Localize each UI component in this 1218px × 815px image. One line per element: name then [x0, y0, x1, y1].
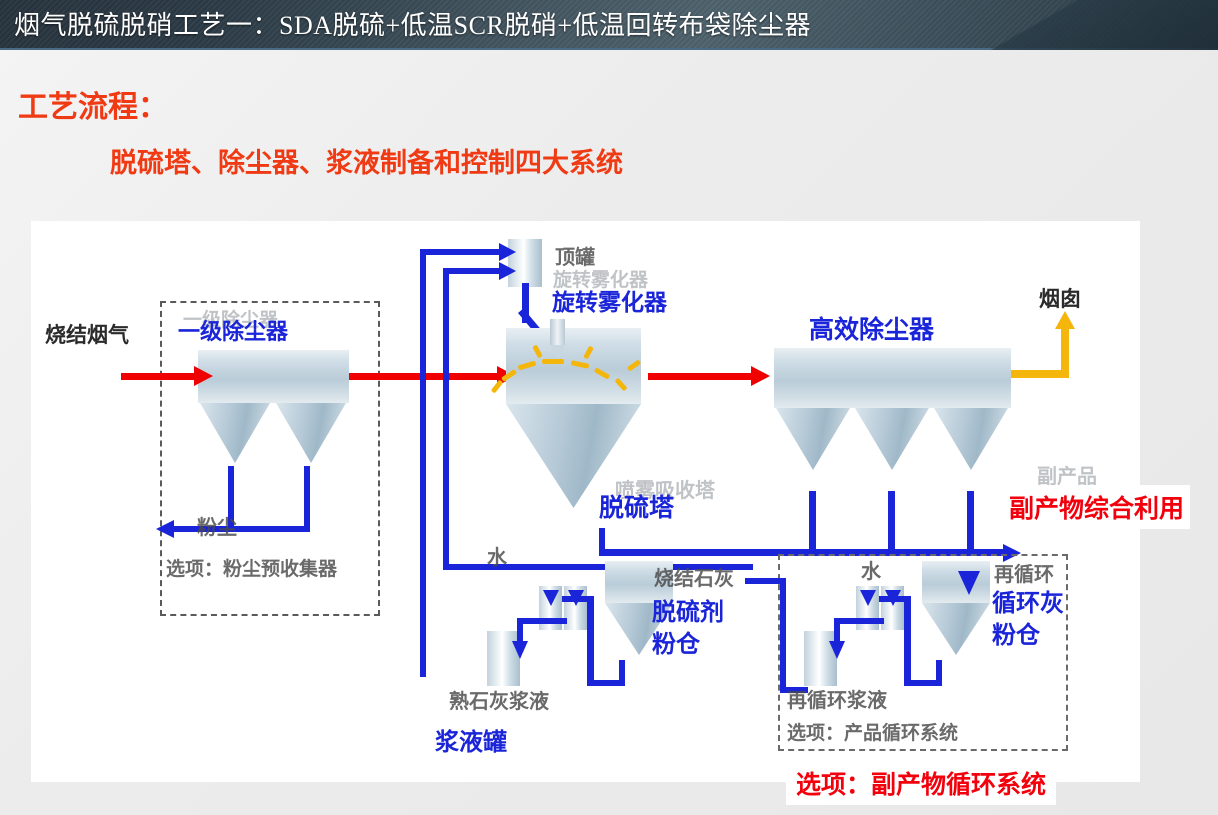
page-title: 烟气脱硫脱硝工艺一：SDA脱硫+低温SCR脱硝+低温回转布袋除尘器	[14, 5, 811, 42]
spray-arc-7	[491, 379, 504, 393]
mixer-to-tank-horizontal	[517, 618, 567, 624]
tower-label: 脱硫塔	[599, 488, 674, 524]
recycle-discharge-riser	[904, 596, 911, 686]
byproduct-label: 副产物综合利用	[1003, 485, 1190, 529]
process-flow-diagram: 烧结烟气 一级除尘器 一级除尘器 粉尘 选项：粉尘预收集器 顶罐 旋转雾化器	[31, 221, 1140, 782]
high-eff-drop-3	[967, 491, 974, 555]
gas-inlet-arrowhead	[194, 366, 213, 386]
recycle-ash-silo-label-1: 循环灰	[992, 583, 1064, 618]
tank-feed-lower-horizontal	[443, 268, 503, 274]
gas-line-to-collector	[648, 373, 758, 380]
recycle-tank-feed-arrowhead	[829, 641, 845, 659]
recycle-water-line	[780, 578, 786, 693]
recycle-discharge-vertical	[936, 660, 942, 686]
section-heading-process-flow: 工艺流程：	[18, 82, 168, 126]
slurry-discharge-vertical-up	[587, 596, 594, 686]
stack-arrowhead	[1055, 311, 1075, 329]
dust-precollector-option-label: 选项：粉尘预收集器	[166, 554, 337, 581]
water-label-left: 水	[487, 541, 507, 570]
recycle-ash-silo-feed-arrowhead	[958, 571, 980, 595]
tank-feed-riser-inner	[443, 268, 449, 568]
byproduct-recycle-option-label: 选项：副产物循环系统	[786, 761, 1056, 805]
dust-return-arrowhead	[156, 520, 174, 538]
high-eff-collector-label: 高效除尘器	[809, 310, 934, 346]
gas-line-inlet	[121, 373, 201, 380]
spray-arc-1	[542, 359, 564, 364]
primary-collector-title: 一级除尘器	[178, 314, 288, 346]
slurry-tank-label: 浆液罐	[435, 722, 507, 757]
dust-return-riser-right	[304, 466, 310, 532]
title-bar: 烟气脱硫脱硝工艺一：SDA脱硫+低温SCR脱硝+低温回转布袋除尘器	[0, 0, 1218, 50]
slurry-discharge-top	[562, 596, 594, 602]
water-label-right: 水	[861, 555, 881, 584]
section-subheading-four-systems: 脱硫塔、除尘器、浆液制备和控制四大系统	[110, 141, 623, 180]
high-eff-hopper-2	[855, 408, 929, 470]
gas-line-to-tower	[349, 373, 504, 380]
high-eff-drop-1	[809, 491, 816, 555]
tank-feed-lower-arrowhead	[499, 262, 516, 280]
sintered-lime-label: 烧结石灰	[654, 562, 734, 591]
stack-line-vertical	[1061, 328, 1069, 376]
atomizer-head	[550, 319, 565, 345]
gas-to-collector-arrowhead	[751, 366, 770, 386]
atomizer-tip	[550, 345, 565, 360]
high-eff-drop-2	[888, 491, 895, 555]
product-recycle-option-label: 选项：产品循环系统	[787, 718, 958, 745]
dust-label: 粉尘	[197, 511, 237, 540]
atomizer-label: 旋转雾化器	[552, 283, 667, 317]
tank-feed-upper-horizontal	[420, 249, 502, 255]
recycle-mixer-arrow-left	[860, 590, 876, 606]
mixer-feed-arrow-left	[543, 590, 559, 606]
recycle-discharge-top	[879, 596, 911, 602]
slurry-discharge-riser	[619, 660, 625, 686]
desulfurizer-silo-label-2: 粉仓	[652, 624, 700, 659]
dust-return-horizontal	[173, 526, 310, 532]
recycle-mixer-to-tank-horizontal	[834, 618, 884, 624]
high-eff-hopper-1	[776, 408, 850, 470]
tank-feed-riser-outer	[420, 249, 426, 677]
lime-slurry-label: 熟石灰浆液	[449, 685, 549, 714]
tank-feed-upper-arrowhead	[499, 243, 516, 261]
recycle-water-line-top	[745, 578, 786, 584]
stack-label: 烟囱	[1039, 283, 1081, 313]
high-eff-hopper-3	[934, 408, 1008, 470]
high-eff-collector-body	[774, 348, 1011, 408]
desulfurizer-silo-label-1: 脱硫剂	[652, 592, 724, 627]
recycle-slurry-label: 再循环浆液	[787, 684, 887, 713]
inlet-label: 烧结烟气	[45, 319, 129, 349]
primary-collector-body	[198, 350, 349, 403]
recycle-ash-silo-label-2: 粉仓	[992, 615, 1040, 650]
slurry-tank-feed-arrowhead	[512, 641, 528, 659]
